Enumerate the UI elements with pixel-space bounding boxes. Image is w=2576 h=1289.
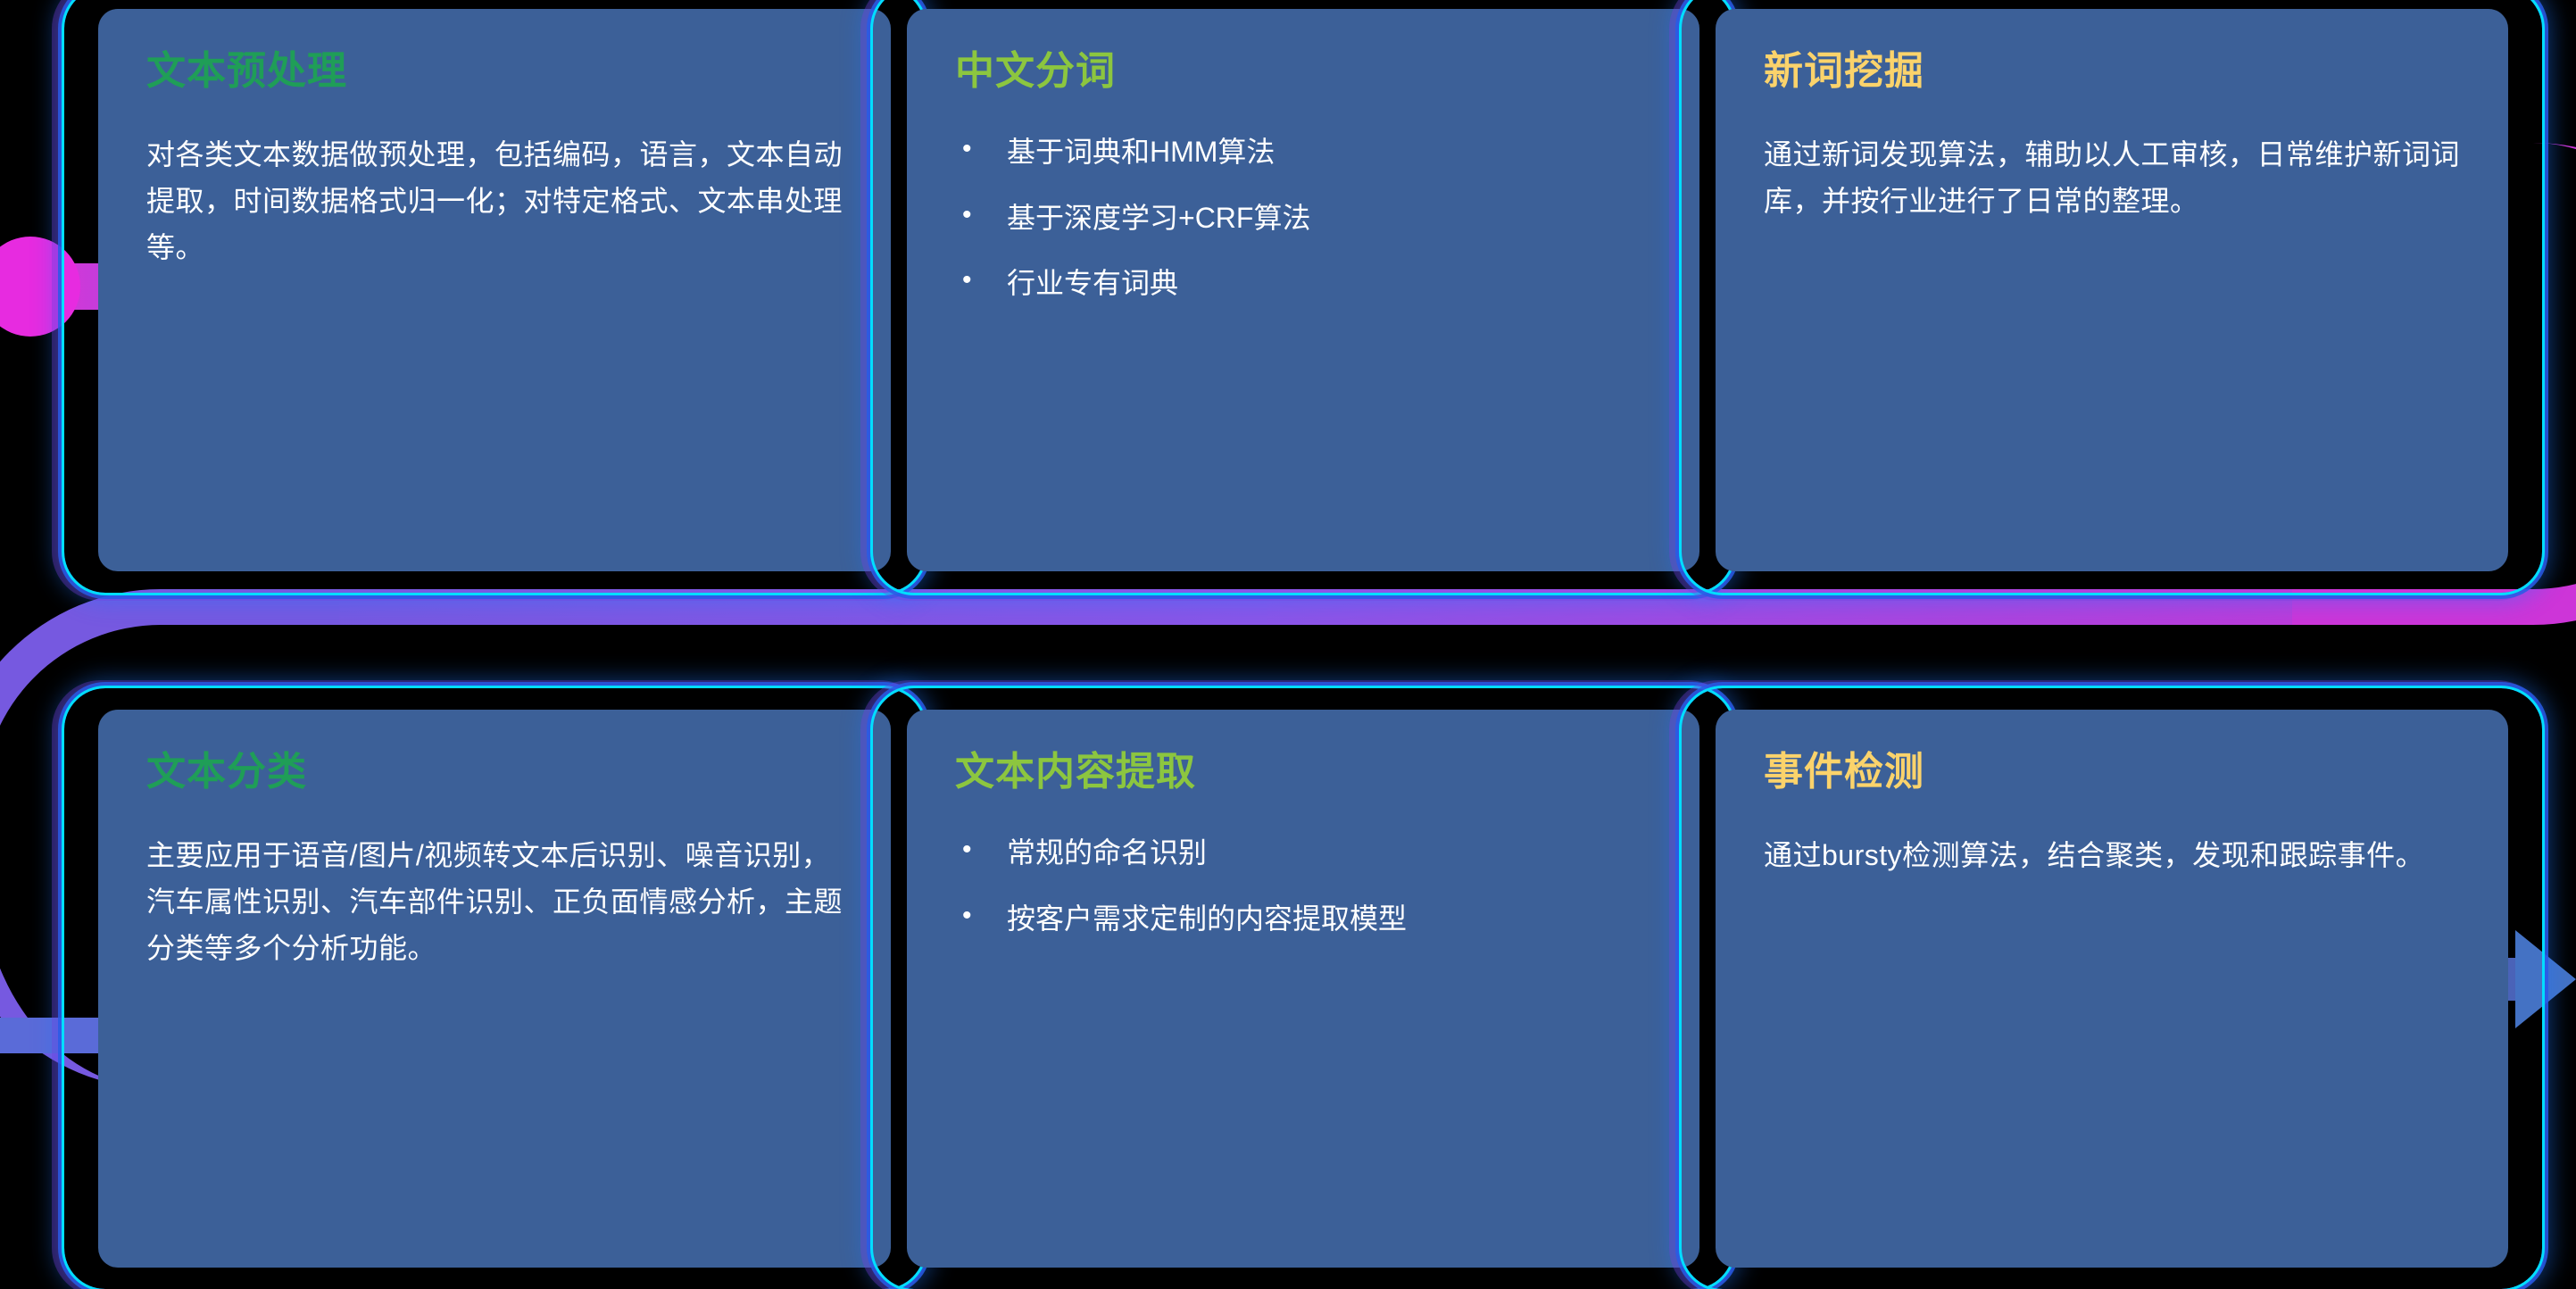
list-item: 基于词典和HMM算法 bbox=[955, 132, 1651, 172]
list-item: 按客户需求定制的内容提取模型 bbox=[955, 899, 1651, 939]
card-row-top: 文本预处理 对各类文本数据做预处理，包括编码，语言，文本自动提取，时间数据格式归… bbox=[98, 9, 2508, 571]
card-inner: 文本内容提取 常规的命名识别 按客户需求定制的内容提取模型 bbox=[907, 710, 1699, 1268]
card-bullet-list: 基于词典和HMM算法 基于深度学习+CRF算法 行业专有词典 bbox=[955, 132, 1651, 304]
card-chinese-word-segmentation[interactable]: 中文分词 基于词典和HMM算法 基于深度学习+CRF算法 行业专有词典 bbox=[907, 9, 1699, 571]
card-inner: 文本预处理 对各类文本数据做预处理，包括编码，语言，文本自动提取，时间数据格式归… bbox=[98, 9, 891, 571]
card-title: 文本内容提取 bbox=[955, 751, 1651, 794]
card-body: 主要应用于语音/图片/视频转文本后识别、噪音识别，汽车属性识别、汽车部件识别、正… bbox=[146, 833, 843, 971]
card-inner: 新词挖掘 通过新词发现算法，辅助以人工审核，日常维护新词词库，并按行业进行了日常… bbox=[1716, 9, 2508, 571]
process-card-grid: 文本预处理 对各类文本数据做预处理，包括编码，语言，文本自动提取，时间数据格式归… bbox=[0, 0, 2576, 1277]
card-new-word-mining[interactable]: 新词挖掘 通过新词发现算法，辅助以人工审核，日常维护新词词库，并按行业进行了日常… bbox=[1716, 9, 2508, 571]
card-title: 新词挖掘 bbox=[1764, 50, 2460, 93]
card-text-content-extraction[interactable]: 文本内容提取 常规的命名识别 按客户需求定制的内容提取模型 bbox=[907, 710, 1699, 1268]
card-title: 中文分词 bbox=[955, 50, 1651, 93]
card-body: 通过新词发现算法，辅助以人工审核，日常维护新词词库，并按行业进行了日常的整理。 bbox=[1764, 132, 2460, 225]
card-event-detection[interactable]: 事件检测 通过bursty检测算法，结合聚类，发现和跟踪事件。 bbox=[1716, 710, 2508, 1268]
card-text-preprocessing[interactable]: 文本预处理 对各类文本数据做预处理，包括编码，语言，文本自动提取，时间数据格式归… bbox=[98, 9, 891, 571]
card-body: 对各类文本数据做预处理，包括编码，语言，文本自动提取，时间数据格式归一化；对特定… bbox=[146, 132, 843, 270]
card-inner: 中文分词 基于词典和HMM算法 基于深度学习+CRF算法 行业专有词典 bbox=[907, 9, 1699, 571]
card-row-bottom: 文本分类 主要应用于语音/图片/视频转文本后识别、噪音识别，汽车属性识别、汽车部… bbox=[98, 710, 2508, 1268]
card-title: 文本分类 bbox=[146, 751, 843, 794]
card-body: 通过bursty检测算法，结合聚类，发现和跟踪事件。 bbox=[1764, 833, 2460, 879]
card-bullet-list: 常规的命名识别 按客户需求定制的内容提取模型 bbox=[955, 833, 1651, 939]
card-inner: 文本分类 主要应用于语音/图片/视频转文本后识别、噪音识别，汽车属性识别、汽车部… bbox=[98, 710, 891, 1268]
list-item: 常规的命名识别 bbox=[955, 833, 1651, 873]
card-title: 事件检测 bbox=[1764, 751, 2460, 794]
card-title: 文本预处理 bbox=[146, 50, 843, 93]
card-inner: 事件检测 通过bursty检测算法，结合聚类，发现和跟踪事件。 bbox=[1716, 710, 2508, 1268]
list-item: 行业专有词典 bbox=[955, 263, 1651, 304]
card-text-classification[interactable]: 文本分类 主要应用于语音/图片/视频转文本后识别、噪音识别，汽车属性识别、汽车部… bbox=[98, 710, 891, 1268]
list-item: 基于深度学习+CRF算法 bbox=[955, 198, 1651, 238]
